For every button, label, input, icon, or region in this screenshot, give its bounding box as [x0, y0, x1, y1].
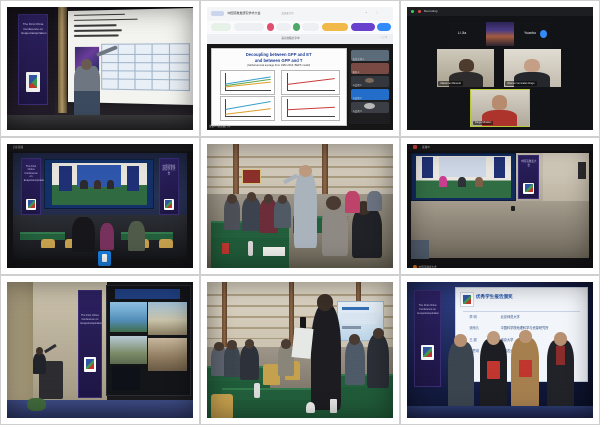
thermos-bottle [254, 383, 261, 398]
projection-screen [106, 285, 192, 396]
photo-podium-keynote: The First China Conference on Evapotrans… [7, 282, 193, 418]
water-bottle [330, 399, 337, 413]
participant-name-2: 与会者 1 [352, 83, 361, 87]
webinar-title: 中国蒸散发研究学术大会 [227, 11, 260, 15]
photo-award-ceremony: The First China Conference on Evapotrans… [407, 282, 593, 418]
video-tile-0[interactable]: Massimo Menenti [437, 49, 495, 87]
video-tile-1[interactable]: Ramon Gonzalez-Dugo [504, 49, 562, 87]
awardee-figure-0 [448, 342, 474, 407]
et-logo-icon [84, 357, 96, 372]
photo-woman-speaking: 直播中 中国蒸散发大会 [407, 144, 593, 268]
recording-label: Recording [424, 9, 438, 13]
slide-photo-1 [110, 302, 147, 332]
webinar-status: 会议进行中 [281, 11, 293, 15]
audience-area [411, 201, 590, 258]
slide-photo-2 [148, 302, 186, 335]
toolbar-button-1[interactable] [234, 23, 264, 30]
et-logo-icon [421, 345, 434, 359]
toolbar-button-0[interactable] [211, 23, 231, 30]
conference-banner-text: The First China Conference on Evapotrans… [21, 22, 44, 35]
photo-cell-8[interactable] [200, 275, 400, 425]
photo-cell-6[interactable]: 直播中 中国蒸散发大会 [400, 137, 600, 275]
shared-slide: Decoupling between GPP and ET and betwee… [211, 48, 347, 126]
hall-photo-area: The First China Conference on Evapotrans… [13, 153, 188, 260]
stage-floor [7, 115, 193, 130]
participant-name-4: 与会者 3 [352, 109, 361, 113]
banner-right: 中国蒸散发研究学术大会 [159, 158, 178, 215]
orange-badge-watermark [413, 265, 417, 268]
video-wall-screen [411, 153, 517, 201]
avatar [365, 78, 374, 83]
slide-photo-4 [148, 338, 186, 371]
attendee-head [317, 294, 334, 310]
stage-plants [27, 398, 46, 412]
more-icon-top[interactable]: ⋮ [376, 11, 378, 14]
stage-curtain [7, 282, 33, 418]
award-slide-title: 优秀学生报告颁奖 [476, 294, 513, 300]
speaker-name-right: Yuanbo [524, 31, 536, 35]
video-tile-2-active-speaker[interactable]: Diego Miralles [470, 89, 530, 127]
photo-collage-grid: The First China Conference on Evapotrans… [0, 0, 600, 427]
share-icon[interactable] [293, 23, 300, 30]
blue-badge-watermark [98, 251, 111, 266]
banner-text: The First China Conference on Evapotrans… [417, 304, 437, 315]
award-plaque-2 [519, 360, 532, 378]
speaker-woman [100, 223, 114, 251]
webinar-title-bar: 中国蒸散发研究学术大会 会议进行中 ◓ ⋮ [207, 7, 393, 22]
photo-audience-question [207, 144, 393, 268]
scarf [556, 346, 565, 365]
video-tile-name-0: Massimo Menenti [438, 81, 462, 86]
photo-cell-7[interactable]: The First China Conference on Evapotrans… [0, 275, 200, 425]
standing-questioner [294, 171, 316, 248]
webinar-footer-text: 主讲人:演讲进行中 [209, 124, 230, 128]
speaker-name-left: Li Jia [458, 31, 466, 35]
participant-tile-0[interactable]: 会议主持人 [351, 50, 389, 61]
conference-banner: The First China Conference on Evapotrans… [414, 290, 440, 387]
webinar-toolbar[interactable] [207, 21, 393, 36]
participant-name-3: 与会者 2 [352, 96, 361, 100]
photo-cell-1[interactable]: The First China Conference on Evapotrans… [0, 0, 200, 137]
chart-gpp-et [220, 70, 276, 95]
chart-gpp-t-scatter [281, 96, 339, 121]
award-plaque-1 [487, 361, 500, 379]
zoom-top-bar: Recording [407, 7, 593, 16]
toolbar-button-6[interactable] [377, 23, 391, 30]
banner-text: 中国蒸散发大会 [520, 160, 537, 167]
watermark-bar: 中国蒸散发大会 [413, 267, 437, 268]
watermark-text: 中国蒸散发大会 [419, 265, 437, 268]
video-tile-name-1: Ramon Gonzalez-Dugo [505, 81, 536, 86]
printed-notes [291, 327, 313, 359]
photo-hybrid-session-hall: 正在直播 The First China Conference on Evapo… [7, 144, 193, 268]
side-wall [543, 153, 589, 204]
awardee-head-3 [554, 332, 567, 346]
et-logo-icon [26, 199, 36, 210]
slide-photo-5 [112, 366, 140, 390]
participant-tile-4[interactable]: 与会者 3 [351, 102, 389, 113]
slide-title-bar [115, 289, 180, 299]
photo-cell-4[interactable]: 正在直播 The First China Conference on Evapo… [0, 137, 200, 275]
participant-name-0: 会议主持人 [352, 57, 364, 61]
participant-roster[interactable]: 会议主持人 报告人 与会者 1 与会者 2 与会者 3 [349, 48, 390, 124]
et-logo-icon [164, 199, 174, 210]
share-status-text: 演示文稿共享中 [281, 36, 299, 40]
photo-cell-3[interactable]: Recording Li Jia Yuanbo Massimo Menenti [400, 0, 600, 137]
participant-tile-3[interactable]: 与会者 2 [351, 89, 389, 100]
wall-plaque [242, 169, 261, 185]
video-top-bar: 正在直播 [7, 144, 193, 151]
photo-cell-9[interactable]: The First China Conference on Evapotrans… [400, 275, 600, 425]
awardee-head-2 [519, 330, 532, 344]
attendee-silhouette [72, 217, 95, 252]
screenshot-zoom-gallery: Recording Li Jia Yuanbo Massimo Menenti [407, 7, 593, 130]
speaker-name-strip: Li Jia Yuanbo [450, 22, 550, 47]
video-tile-name-2: Diego Miralles [473, 121, 493, 125]
slide-bullet-lines [74, 12, 163, 40]
video-bottom-bar: 中国蒸散发大会 [407, 259, 593, 268]
toolbar-button-5[interactable] [351, 23, 375, 30]
chart-gpp-transpiration [220, 96, 276, 121]
toolbar-button-3[interactable] [302, 23, 319, 30]
name-card [222, 243, 229, 254]
avatar [364, 103, 375, 109]
banner-right-text: 中国蒸散发研究学术大会 [162, 165, 177, 176]
share-label-top: ◓ [366, 11, 367, 14]
toolbar-button-4[interactable] [322, 23, 348, 30]
awardee-affiliation-0: 北京师范大学 [501, 314, 520, 319]
shared-slide-title-2: and between GPP and T [225, 58, 332, 64]
conference-banner: The First China Conference on Evapotrans… [78, 290, 102, 398]
status-dot-green [411, 10, 414, 13]
banner-left-text: The First China Conference on Evapotrans… [24, 165, 39, 183]
live-dot [413, 145, 418, 149]
awardee-head-1 [487, 331, 500, 345]
record-icon[interactable] [267, 23, 274, 30]
awardee-name-2: 王 超 [469, 337, 476, 342]
avatar-blue [540, 30, 547, 38]
speaker-box [578, 162, 586, 179]
video-wall-screen [44, 159, 154, 209]
live-label: 正在直播 [13, 145, 23, 149]
awardee-name-0: 李 明 [469, 314, 476, 319]
paper-cup [306, 402, 315, 413]
photo-cell-5[interactable] [200, 137, 400, 275]
window-controls[interactable]: – ◻ ✕ [380, 36, 387, 39]
banner-text: The First China Conference on Evapotrans… [80, 314, 99, 325]
slide-photo-3 [110, 336, 147, 364]
photo-attendee-with-microphone [207, 282, 393, 418]
shared-slide-subtitle: (Global annual average from 1982-2016, B… [228, 64, 330, 67]
hall-photo-area: 中国蒸散发大会 [411, 153, 590, 258]
banner-left: The First China Conference on Evapotrans… [21, 158, 40, 215]
app-icon [211, 11, 224, 17]
toolbar-button-2[interactable] [276, 23, 291, 30]
photo-cell-2[interactable]: 中国蒸散发研究学术大会 会议进行中 ◓ ⋮ 演 [200, 0, 400, 137]
video-top-bar: 直播中 [407, 144, 593, 151]
conference-banner: The First China Conference on Evapotrans… [18, 14, 48, 105]
microphone-icon [511, 206, 515, 211]
paper-sheet [263, 247, 285, 256]
conference-banner: 中国蒸散发大会 [518, 155, 540, 199]
recording-dot-red [418, 10, 421, 13]
participant-tile-1[interactable]: 报告人 [351, 63, 389, 74]
stage-floor [407, 406, 593, 418]
speaker-man [128, 221, 145, 251]
chart-gpp-et-scatter [281, 70, 339, 95]
water-bottle [248, 241, 254, 256]
participant-name-1: 报告人 [352, 70, 359, 74]
screenshot-webinar-screenshare: 中国蒸散发研究学术大会 会议进行中 ◓ ⋮ 演 [207, 7, 393, 130]
photo-lecture-hall-presentation: The First China Conference on Evapotrans… [7, 7, 193, 130]
et-logo-icon [523, 183, 534, 194]
et-logo-icon [460, 292, 474, 307]
et-logo-icon [26, 72, 39, 91]
awardee-name-1: 张雨凡 [469, 325, 479, 330]
participant-tile-2[interactable]: 与会者 1 [351, 76, 389, 87]
wall-pillar [58, 7, 66, 113]
live-label: 直播中 [422, 145, 430, 149]
standing-attendee [311, 304, 341, 410]
stage-thumbnail [486, 22, 514, 47]
keynote-speaker [33, 353, 46, 375]
